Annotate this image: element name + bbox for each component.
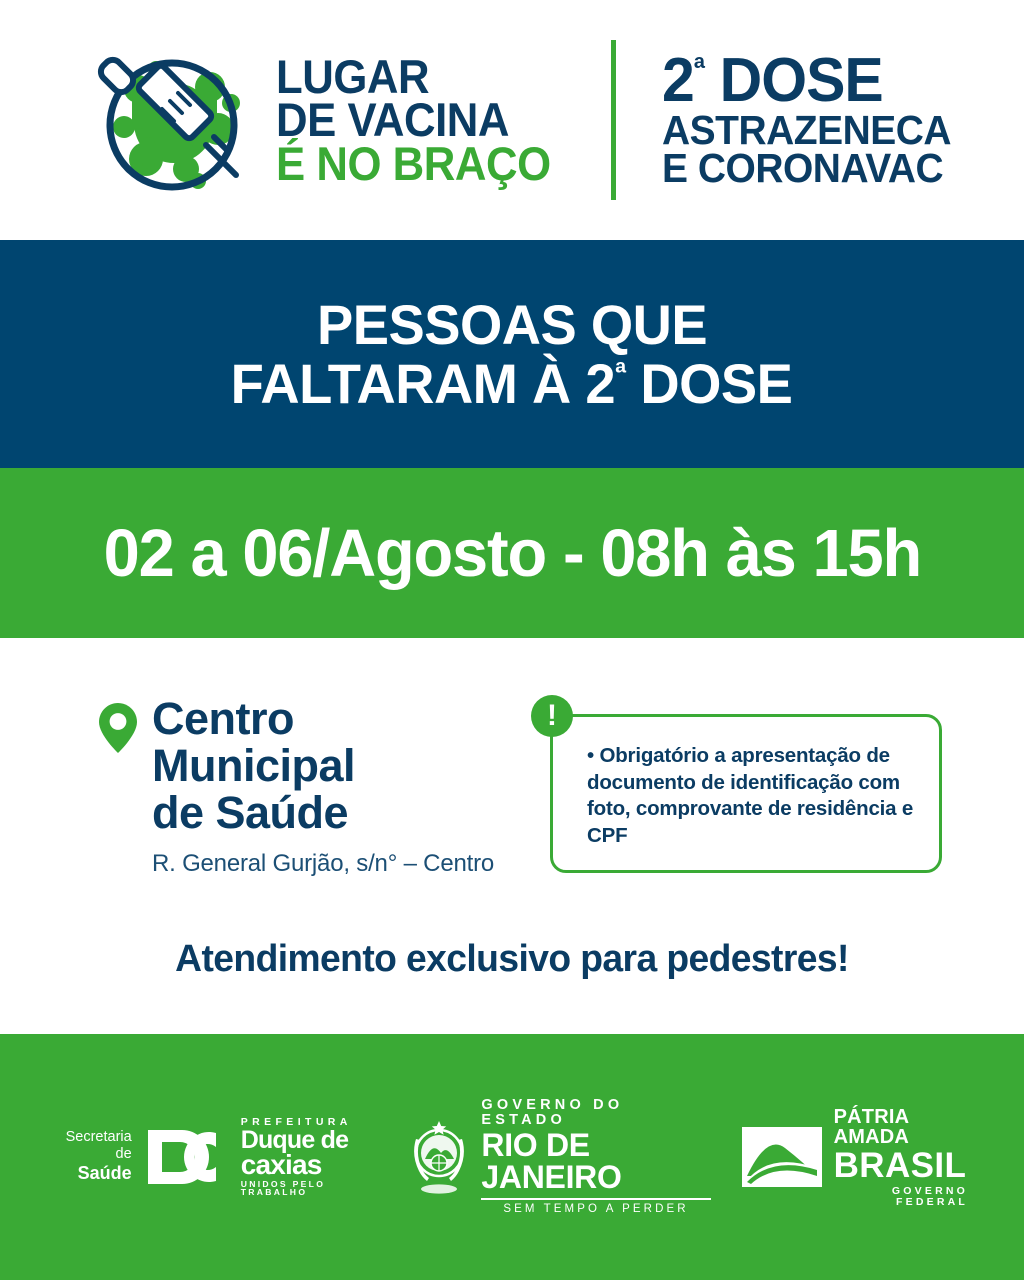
campaign-slogan: LUGAR DE VACINA É NO BRAÇO <box>276 55 571 185</box>
pedestrian-note: Atendimento exclusivo para pedestres! <box>10 938 1014 981</box>
headline-band: PESSOAS QUE FALTARAM À 2ª DOSE <box>0 240 1024 468</box>
state-slogan: SEM TEMPO A PERDER <box>481 1204 710 1216</box>
health-department-label: Secretaria de Saúde <box>56 1129 132 1184</box>
headline-line-1: PESSOAS QUE <box>317 295 707 354</box>
schedule-text: 02 a 06/Agosto - 08h às 15h <box>103 515 920 592</box>
state-government-label: GOVERNO DO ESTADO <box>481 1098 710 1127</box>
details-section: Centro Municipal de Saúde R. General Gur… <box>0 638 1024 1034</box>
dose-ordinal: ª <box>694 50 704 86</box>
vaccine-line-1: ASTRAZENECA <box>662 111 951 150</box>
requirements-text: • Obrigatório a apresentação de document… <box>587 743 917 850</box>
venue-name: Centro Municipal de Saúde <box>152 696 355 836</box>
campaign-brand-lockup: LUGAR DE VACINA É NO BRAÇO <box>86 41 571 199</box>
header-divider <box>611 40 616 200</box>
federal-government-logo: PÁTRIA AMADA BRASIL GOVERNO FEDERAL <box>741 1107 968 1207</box>
exclamation-icon: ! <box>531 695 573 737</box>
venue-name-line-1: Centro <box>152 696 355 743</box>
dose-word: DOSE <box>720 46 883 115</box>
headline-line-2: FALTARAM À 2ª DOSE <box>231 354 793 413</box>
dose-number: 2 <box>662 46 694 115</box>
brasil-flag-mark-icon <box>741 1126 823 1188</box>
federal-logo-words: PÁTRIA AMADA BRASIL GOVERNO FEDERAL <box>834 1107 968 1207</box>
location-pin-icon <box>98 702 138 754</box>
headline-line-2-post: DOSE <box>626 352 793 415</box>
city-name: Duque de caxias <box>241 1129 378 1178</box>
health-department-line-2: Saúde <box>56 1163 132 1184</box>
vaccination-campaign-poster: LUGAR DE VACINA É NO BRAÇO 2ª DOSE ASTRA… <box>0 0 1024 1280</box>
venue-address: R. General Gurjão, s/n° – Centro <box>98 850 540 878</box>
schedule-band: 02 a 06/Agosto - 08h às 15h <box>0 468 1024 638</box>
federal-name: BRASIL <box>834 1148 968 1183</box>
dose-title: 2ª DOSE <box>662 52 951 111</box>
rio-de-janeiro-crest-icon <box>407 1119 471 1195</box>
state-government-logo: GOVERNO DO ESTADO RIO DE JANEIRO SEM TEM… <box>407 1098 710 1215</box>
syringe-virus-icon <box>86 41 258 199</box>
poster-footer: Secretaria de Saúde PREFEITURA Duque de … <box>0 1034 1024 1280</box>
dc-monogram-icon <box>146 1128 232 1186</box>
headline-dose-number: 2 <box>586 352 616 415</box>
state-name: RIO DE JANEIRO <box>481 1129 710 1193</box>
requirements-notice: ! • Obrigatório a apresentação de docume… <box>550 714 942 873</box>
city-government-logo: Secretaria de Saúde PREFEITURA Duque de … <box>56 1117 377 1196</box>
venue-and-notice-row: Centro Municipal de Saúde R. General Gur… <box>0 638 1024 878</box>
poster-header: LUGAR DE VACINA É NO BRAÇO 2ª DOSE ASTRA… <box>0 0 1024 240</box>
requirements-box: • Obrigatório a apresentação de document… <box>550 714 942 873</box>
slogan-line-3: É NO BRAÇO <box>276 142 551 185</box>
city-logo-words: PREFEITURA Duque de caxias UNIDOS PELO T… <box>241 1117 378 1196</box>
headline-line-2-pre: FALTARAM À <box>231 352 586 415</box>
venue-name-line-3: de Saúde <box>152 790 355 837</box>
dose-info: 2ª DOSE ASTRAZENECA E CORONAVAC <box>662 52 966 189</box>
slogan-line-1: LUGAR <box>276 55 551 98</box>
venue-block: Centro Municipal de Saúde R. General Gur… <box>0 696 540 878</box>
venue-heading: Centro Municipal de Saúde <box>98 696 540 836</box>
slogan-line-2: DE VACINA <box>276 98 551 141</box>
city-slogan: UNIDOS PELO TRABALHO <box>241 1180 378 1197</box>
federal-tagline: PÁTRIA AMADA <box>834 1107 968 1147</box>
state-logo-divider <box>481 1198 710 1200</box>
venue-name-line-2: Municipal <box>152 743 355 790</box>
federal-subtitle: GOVERNO FEDERAL <box>834 1186 968 1207</box>
city-name-line-2: caxias <box>241 1152 378 1178</box>
vaccine-line-2: E CORONAVAC <box>662 149 951 188</box>
state-logo-words: GOVERNO DO ESTADO RIO DE JANEIRO SEM TEM… <box>481 1098 710 1215</box>
health-department-line-1: Secretaria de <box>56 1129 132 1163</box>
